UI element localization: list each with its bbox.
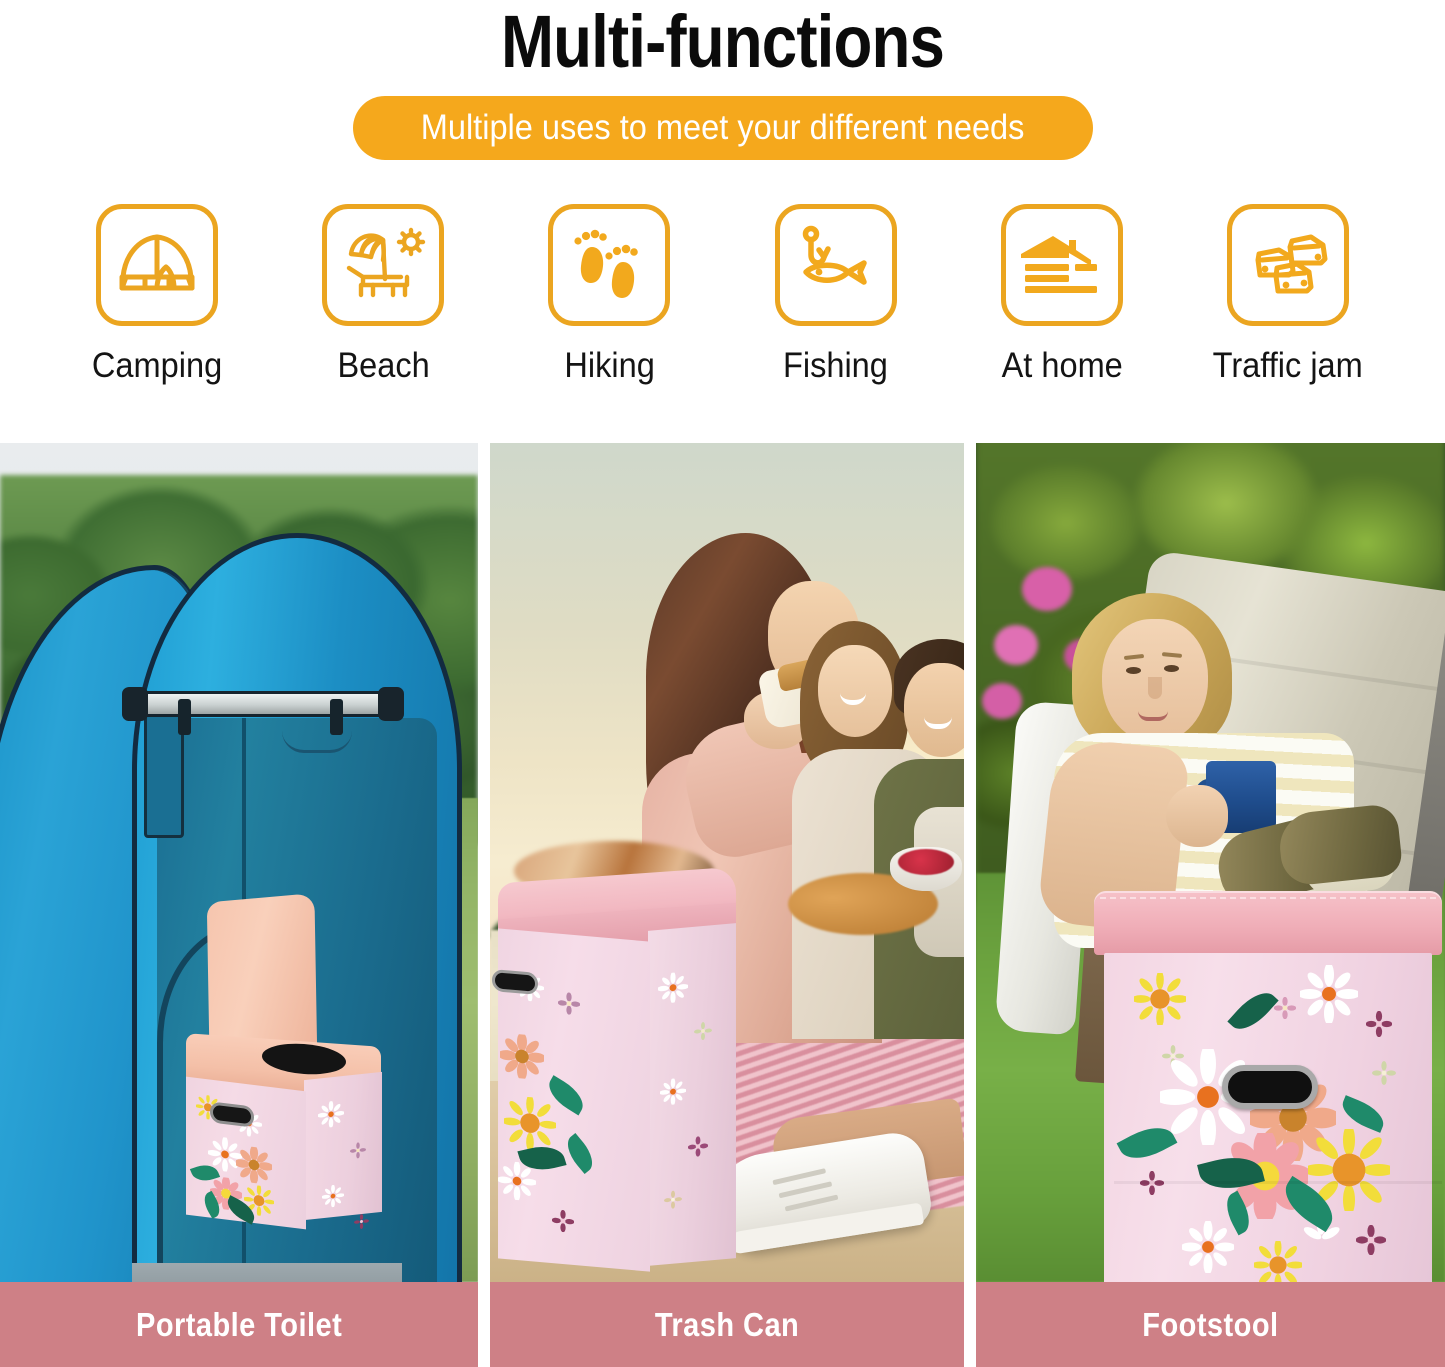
- use-case-label: Camping: [92, 346, 222, 386]
- panel-caption-trash-can: Trash Can: [490, 1282, 964, 1367]
- face: [1102, 619, 1208, 743]
- daisy-flower: [1182, 1221, 1234, 1273]
- small-flower: [552, 1209, 574, 1233]
- trash-can-product: [498, 875, 738, 1275]
- footstool-body: [1104, 953, 1432, 1282]
- footstool-product: [1094, 891, 1444, 1282]
- footstool-carry-handle: [1222, 1065, 1318, 1109]
- pink-blossom: [994, 625, 1038, 665]
- use-case-label: At home: [1001, 346, 1122, 386]
- small-flower: [694, 1021, 712, 1041]
- portable-toilet-product: [186, 898, 386, 1228]
- pink-blossom: [982, 683, 1022, 719]
- use-case-at-home[interactable]: At home: [957, 204, 1167, 386]
- icon-box-hiking: [548, 204, 670, 326]
- scene-panel-portable-toilet: Portable Toilet: [0, 443, 478, 1367]
- panel-caption-footstool: Footstool: [976, 1282, 1445, 1367]
- sunflower: [1254, 1241, 1302, 1282]
- daisy-flower-large: [1300, 965, 1358, 1023]
- subtitle-pill-wrapper: Multiple uses to meet your different nee…: [0, 96, 1445, 160]
- header: Multi-functions Multiple uses to meet yo…: [0, 0, 1445, 160]
- small-flower: [1366, 1011, 1392, 1037]
- face: [904, 663, 964, 757]
- icon-box-fishing: [775, 204, 897, 326]
- use-case-label: Beach: [337, 346, 429, 386]
- small-flower: [1356, 1225, 1386, 1255]
- small-flower: [350, 1142, 366, 1160]
- tent-crossbar-cap-right: [378, 687, 404, 721]
- small-flower: [558, 992, 580, 1016]
- use-case-label: Traffic jam: [1213, 346, 1363, 386]
- fish-hook-icon: [794, 225, 878, 305]
- tent-strap-left: [178, 699, 191, 735]
- scene-panel-trash-can: Trash Can: [490, 443, 964, 1367]
- panel-divider-1: [478, 443, 490, 1367]
- subtitle-text: Multiple uses to meet your different nee…: [421, 108, 1025, 148]
- hand: [1166, 785, 1228, 847]
- icon-box-camping: [96, 204, 218, 326]
- icon-box-at-home: [1001, 204, 1123, 326]
- leaf: [561, 1133, 600, 1174]
- shoelace: [785, 1195, 839, 1212]
- footstool-lid: [1094, 891, 1442, 955]
- nose: [1148, 677, 1162, 699]
- daisy-flower: [318, 1100, 344, 1129]
- daisy-flower: [660, 1078, 686, 1106]
- body-seam: [1114, 1181, 1442, 1184]
- sunflower: [1134, 973, 1186, 1025]
- shoelace: [772, 1168, 826, 1185]
- use-case-label: Fishing: [783, 346, 888, 386]
- caption-text: Portable Toilet: [136, 1306, 342, 1344]
- daisy-flower: [658, 971, 688, 1004]
- use-case-traffic-jam[interactable]: Traffic jam: [1183, 204, 1393, 386]
- subtitle-pill: Multiple uses to meet your different nee…: [353, 96, 1093, 160]
- panel-caption-portable-toilet: Portable Toilet: [0, 1282, 478, 1367]
- scene-panel-footstool: Footstool: [976, 443, 1445, 1367]
- cars-icon: [1245, 229, 1331, 301]
- icon-box-beach: [322, 204, 444, 326]
- toilet-body-front: [186, 1077, 306, 1230]
- eyebrow-right: [1162, 652, 1182, 658]
- panel-divider-2: [964, 443, 976, 1367]
- trash-can-carry-handle: [492, 969, 538, 995]
- person-man-right: [888, 639, 964, 1039]
- sunflower-large: [504, 1095, 556, 1152]
- small-flower: [1372, 1061, 1396, 1085]
- scene-photo-trash-can: [490, 443, 964, 1282]
- small-flower: [354, 1213, 369, 1230]
- tent-crossbar-cap-left: [122, 687, 148, 721]
- strawberries: [898, 849, 954, 875]
- use-case-camping[interactable]: Camping: [52, 204, 262, 386]
- product-scene-panels: Portable Toilet: [0, 443, 1445, 1367]
- caption-text: Trash Can: [655, 1306, 799, 1344]
- house-icon: [1019, 232, 1105, 298]
- beach-umbrella-lounger-icon: [339, 227, 427, 303]
- scene-photo-footstool: [976, 443, 1445, 1282]
- small-flower: [664, 1190, 682, 1210]
- page-title: Multi-functions: [101, 2, 1344, 82]
- eyebrow-left: [1124, 654, 1144, 660]
- tent-floor: [132, 1263, 402, 1282]
- tent-icon: [114, 230, 200, 300]
- lid-stitching: [1100, 897, 1436, 901]
- tent-crossbar: [130, 691, 400, 717]
- use-case-hiking[interactable]: Hiking: [504, 204, 714, 386]
- face: [818, 645, 892, 737]
- trash-can-side: [648, 923, 736, 1266]
- leaf: [1227, 984, 1278, 1037]
- use-case-fishing[interactable]: Fishing: [731, 204, 941, 386]
- small-flower: [688, 1136, 708, 1158]
- leaf: [1338, 1095, 1389, 1133]
- daisy-flower: [322, 1184, 344, 1208]
- mouth: [1138, 711, 1168, 721]
- tent-strap-right: [330, 699, 343, 735]
- scene-photo-portable-toilet: [0, 443, 478, 1282]
- shoelace: [779, 1181, 833, 1198]
- toilet-body-side: [304, 1072, 382, 1220]
- footprints-icon: [570, 225, 648, 305]
- peach-flower: [500, 1033, 544, 1081]
- eye-right: [1164, 665, 1179, 672]
- use-case-beach[interactable]: Beach: [278, 204, 488, 386]
- caption-text: Footstool: [1142, 1306, 1278, 1344]
- use-case-icon-row: Camping Beach: [0, 160, 1445, 386]
- eye-left: [1126, 667, 1141, 674]
- icon-box-traffic-jam: [1227, 204, 1349, 326]
- use-case-label: Hiking: [564, 346, 654, 386]
